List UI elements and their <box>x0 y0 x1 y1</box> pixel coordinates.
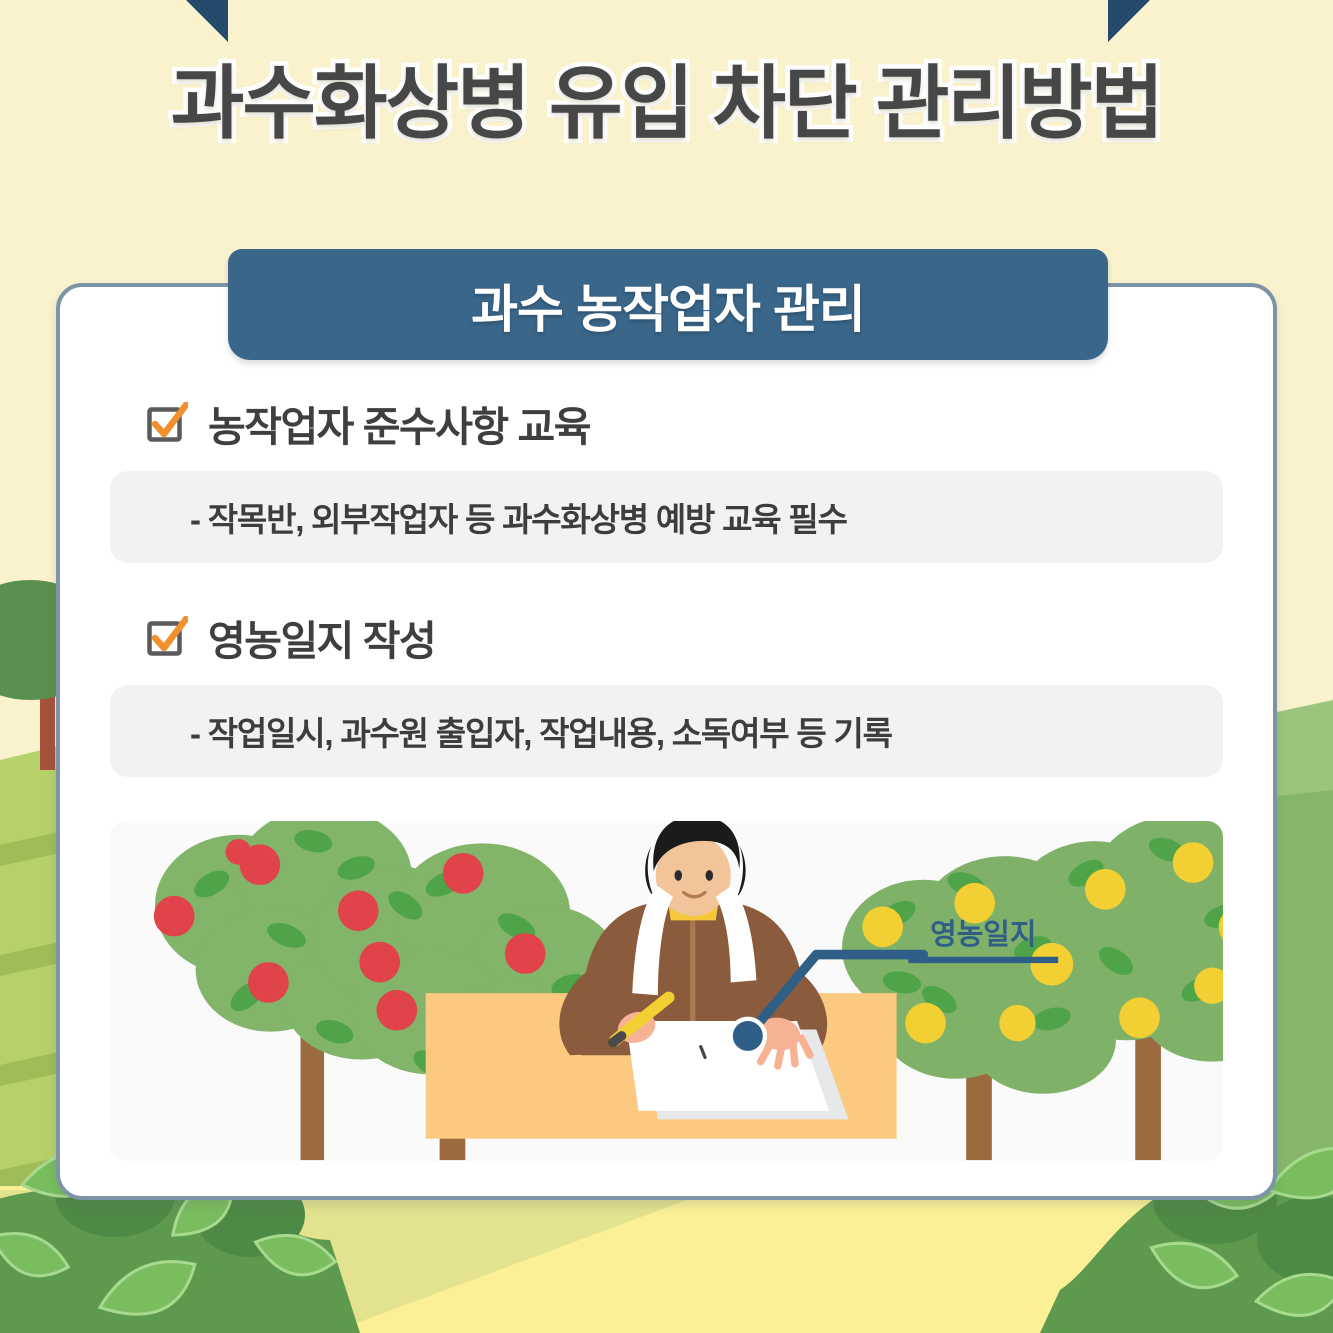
detail-box: - 작목반, 외부작업자 등 과수화상병 예방 교육 필수 <box>110 471 1223 563</box>
list-item: 영농일지 작성 <box>146 607 1223 667</box>
list-item-title: 농작업자 준수사항 교육 <box>208 393 590 453</box>
banner-fold-left <box>186 0 228 42</box>
detail-box: - 작업일시, 과수원 출입자, 작업내용, 소독여부 등 기록 <box>110 685 1223 777</box>
content-card: 농작업자 준수사항 교육 - 작목반, 외부작업자 등 과수화상병 예방 교육 … <box>56 283 1277 1200</box>
illustration-panel: 영농일지 <box>110 821 1223 1161</box>
poster-title-wrap: 과수화상병 유입 차단 관리방법 <box>0 58 1333 150</box>
banner-fold-right <box>1108 0 1150 42</box>
banner-label: 과수 농작업자 관리 <box>471 268 865 342</box>
poster-root: 과수화상병 유입 차단 관리방법 과수 농작업자 관리 농작업자 준수사항 교육… <box>0 0 1333 1333</box>
card-content: 농작업자 준수사항 교육 - 작목반, 외부작업자 등 과수화상병 예방 교육 … <box>60 287 1273 1161</box>
detail-text: - 작업일시, 과수원 출입자, 작업내용, 소독여부 등 기록 <box>190 707 892 755</box>
list-item: 농작업자 준수사항 교육 <box>146 393 1223 453</box>
page-title: 과수화상병 유입 차단 관리방법 <box>171 58 1162 150</box>
section-banner: 과수 농작업자 관리 <box>228 249 1108 360</box>
checkbox-checked-icon <box>146 616 188 658</box>
checkbox-checked-icon <box>146 402 188 444</box>
list-item-title: 영농일지 작성 <box>208 607 435 667</box>
detail-text: - 작목반, 외부작업자 등 과수화상병 예방 교육 필수 <box>190 493 847 541</box>
callout-label: 영농일지 <box>930 919 1036 951</box>
